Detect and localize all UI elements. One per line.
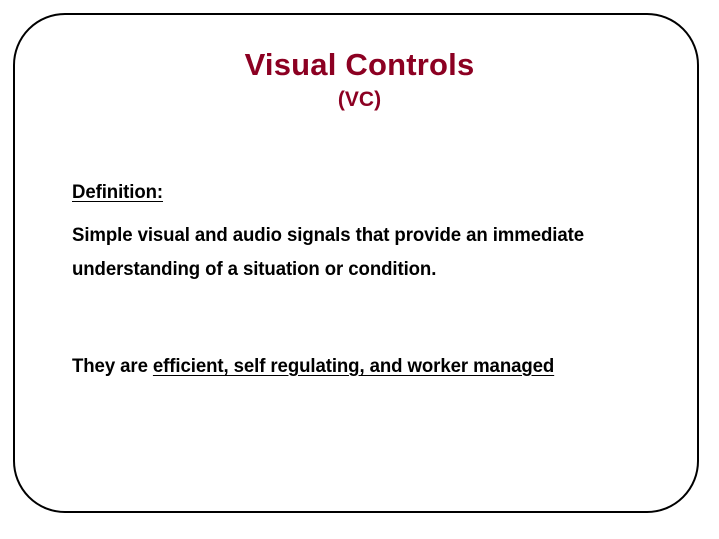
page-subtitle: (VC): [0, 88, 719, 112]
title-block: Visual Controls (VC): [0, 48, 719, 112]
presentation-slide: Visual Controls (VC) Definition: Simple …: [0, 0, 719, 539]
definition-text-line-1: Simple visual and audio signals that pro…: [72, 218, 645, 252]
definition-heading: Definition:: [72, 175, 645, 209]
definition-text-line-2: understanding of a situation or conditio…: [72, 252, 645, 286]
attributes-emphasis: efficient, self regulating, and worker m…: [153, 355, 554, 377]
page-title: Visual Controls: [0, 48, 719, 82]
slide-body: Definition: Simple visual and audio sign…: [72, 175, 672, 383]
attributes-statement: They are efficient, self regulating, and…: [72, 349, 645, 383]
attributes-prefix: They are: [72, 355, 153, 377]
